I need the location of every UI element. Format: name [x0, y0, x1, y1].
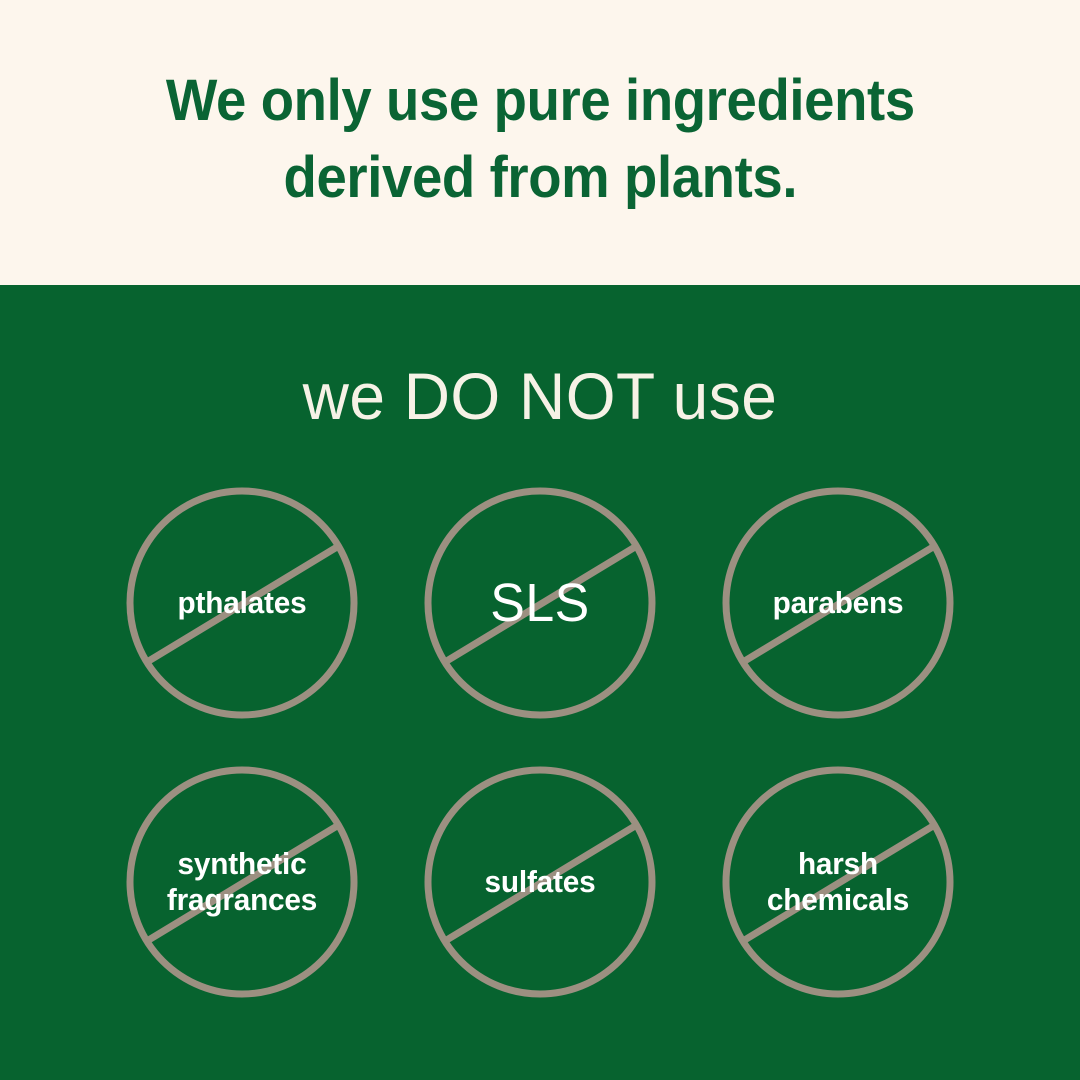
- prohibition-icon: [126, 766, 358, 998]
- excluded-ingredients-grid: pthalates SLS parabens: [0, 285, 1080, 1080]
- headline-text: We only use pure ingredients derived fro…: [166, 63, 915, 216]
- ingredient-badge: parabens: [722, 487, 954, 719]
- prohibition-icon: [424, 487, 656, 719]
- body-band: we DO NOT use pthalates SLS: [0, 285, 1080, 1080]
- header-band: We only use pure ingredients derived fro…: [0, 0, 1080, 285]
- promo-graphic: We only use pure ingredients derived fro…: [0, 0, 1080, 1080]
- prohibition-icon: [126, 487, 358, 719]
- ingredient-badge: synthetic fragrances: [126, 766, 358, 998]
- ingredient-badge: SLS: [424, 487, 656, 719]
- prohibition-icon: [722, 766, 954, 998]
- prohibition-icon: [722, 487, 954, 719]
- ingredient-badge: harsh chemicals: [722, 766, 954, 998]
- ingredient-badge: sulfates: [424, 766, 656, 998]
- prohibition-icon: [424, 766, 656, 998]
- ingredient-badge: pthalates: [126, 487, 358, 719]
